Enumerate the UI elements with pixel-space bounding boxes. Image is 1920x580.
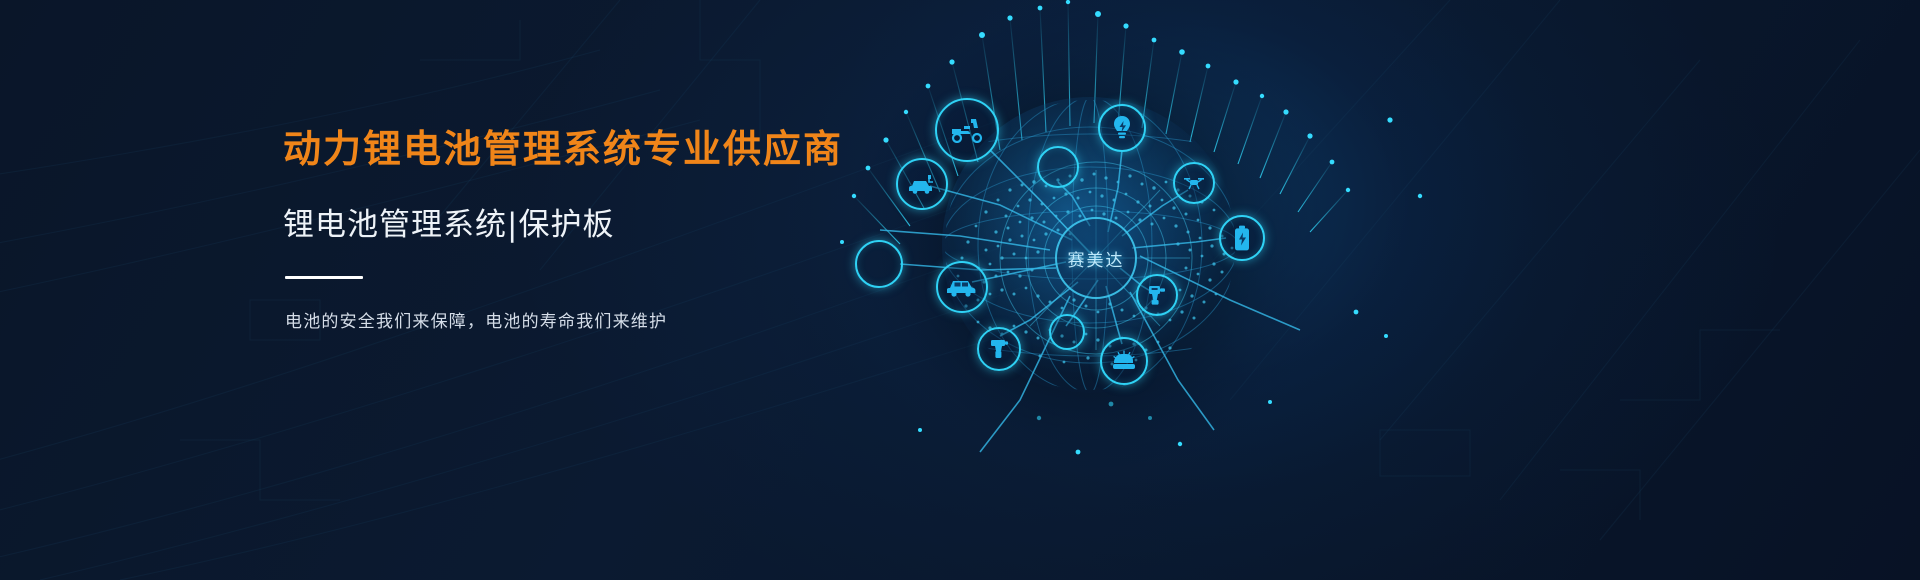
vacuum-icon [1111, 350, 1137, 372]
hero-banner: 赛美达 [0, 0, 1920, 580]
page-tagline: 电池的安全我们来保障，电池的寿命我们来维护 [285, 307, 903, 332]
battery-icon [1234, 225, 1250, 251]
node-car-charging-icon [896, 158, 948, 210]
node-drill-icon [977, 327, 1021, 371]
drone-icon [1183, 174, 1205, 192]
page-title: 动力锂电池管理系统专业供应商 [283, 126, 903, 174]
node-vacuum-icon [1100, 337, 1148, 385]
globe-brand-hub: 赛美达 [1056, 218, 1136, 298]
node-empty-icon-1 [1037, 146, 1079, 188]
node-power-tool-icon [1136, 274, 1178, 316]
hero-copy: 动力锂电池管理系统专业供应商 锂电池管理系统|保护板 电池的安全我们来保障，电池… [283, 126, 903, 332]
globe-brand-label: 赛美达 [1068, 246, 1125, 271]
node-scooter-icon [935, 98, 999, 162]
node-car-icon [936, 261, 988, 313]
node-lightbulb-icon [1098, 104, 1146, 152]
title-divider [285, 276, 363, 279]
scooter-icon [950, 117, 984, 143]
node-drone-icon [1173, 162, 1215, 204]
drill-icon [989, 338, 1009, 360]
page-subtitle: 锂电池管理系统|保护板 [283, 206, 903, 245]
power-tool-icon [1147, 284, 1167, 306]
car-icon [947, 277, 977, 297]
lightbulb-icon [1111, 115, 1133, 141]
node-empty-icon-3 [1049, 314, 1085, 350]
car-charging-icon [908, 174, 936, 194]
node-battery-icon [1219, 215, 1265, 261]
